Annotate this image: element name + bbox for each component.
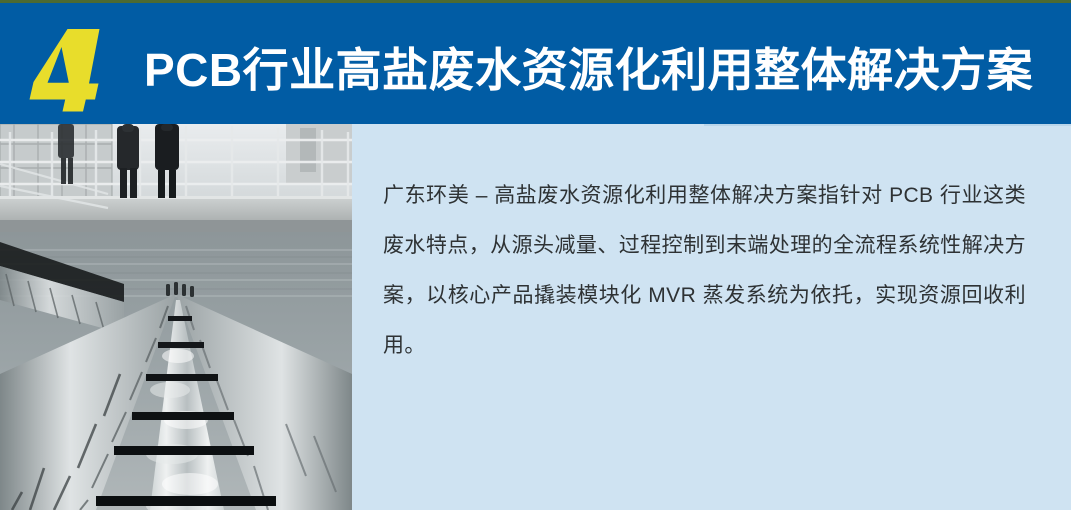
wastewater-treatment-basin-image [0,124,352,510]
solution-card: 4 PCB行业高盐废水资源化利用整体解决方案 [0,0,1071,510]
panel-top-divider [704,124,1071,126]
page-title: PCB行业高盐废水资源化利用整体解决方案 [144,35,1059,105]
content-row: 广东环美 – 高盐废水资源化利用整体解决方案指针对 PCB 行业这类废水特点，从… [0,124,1071,510]
description-paragraph: 广东环美 – 高盐废水资源化利用整体解决方案指针对 PCB 行业这类废水特点，从… [383,171,1026,371]
numeral-four-icon [27,25,123,113]
section-number-badge: 4 [27,25,123,113]
header-banner-inner: 4 PCB行业高盐废水资源化利用整体解决方案 [0,3,1071,124]
description-panel: 广东环美 – 高盐废水资源化利用整体解决方案指针对 PCB 行业这类废水特点，从… [352,124,1071,510]
header-banner: 4 PCB行业高盐废水资源化利用整体解决方案 [0,3,1071,124]
wastewater-treatment-photo [0,124,352,510]
